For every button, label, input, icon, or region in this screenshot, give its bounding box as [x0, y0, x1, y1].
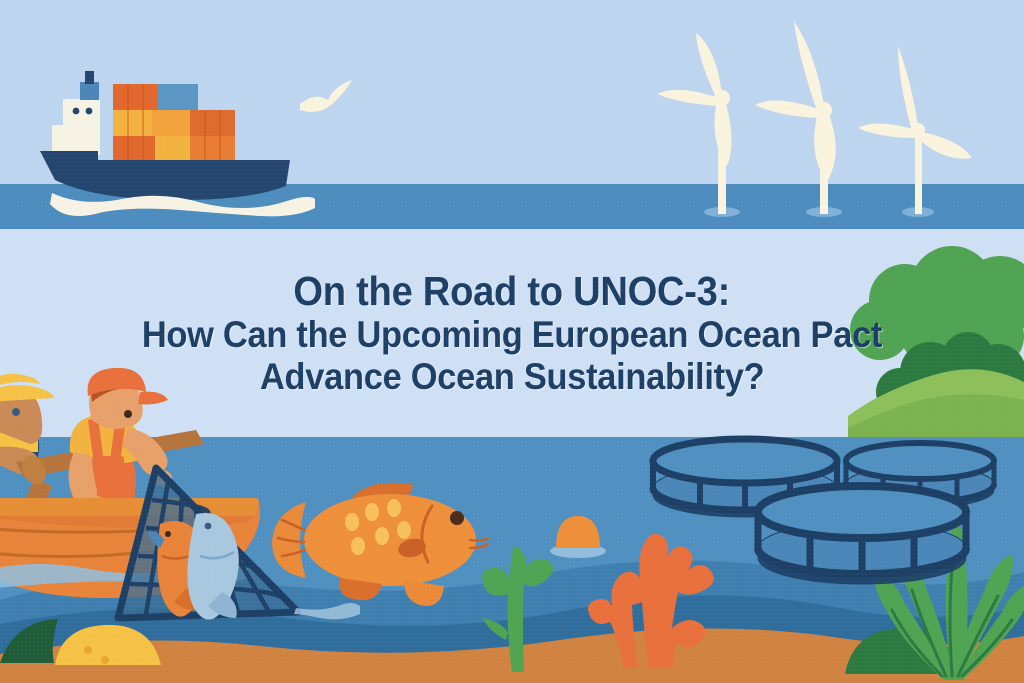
- poster-canvas: On the Road to UNOC-3: How Can the Upcom…: [0, 0, 1024, 683]
- fishing-boat-group: [0, 0, 1024, 683]
